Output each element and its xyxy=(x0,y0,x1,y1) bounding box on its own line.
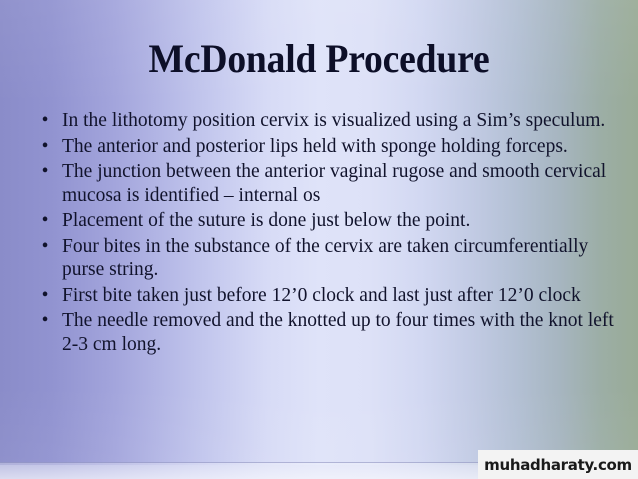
list-item-text: The junction between the anterior vagina… xyxy=(62,160,620,207)
list-item-text: Placement of the suture is done just bel… xyxy=(62,209,620,233)
list-item-text: The needle removed and the knotted up to… xyxy=(62,309,620,356)
bullet-list: • In the lithotomy position cervix is vi… xyxy=(28,109,620,358)
watermark-label: muhadharaty.com xyxy=(484,456,632,474)
slide-title: McDonald Procedure xyxy=(19,36,619,82)
bullet-dot-icon: • xyxy=(38,109,52,133)
bullet-dot-icon: • xyxy=(38,135,52,159)
list-item: • Placement of the suture is done just b… xyxy=(28,209,620,233)
list-item: • The anterior and posterior lips held w… xyxy=(28,135,620,159)
watermark-banner: muhadharaty.com xyxy=(478,450,638,479)
list-item-text: Four bites in the substance of the cervi… xyxy=(62,235,620,282)
list-item: • In the lithotomy position cervix is vi… xyxy=(28,109,620,133)
bullet-dot-icon: • xyxy=(38,284,52,308)
list-item: • Four bites in the substance of the cer… xyxy=(28,235,620,282)
slide-content: McDonald Procedure • In the lithotomy po… xyxy=(0,0,638,479)
list-item: • The needle removed and the knotted up … xyxy=(28,309,620,356)
list-item-text: The anterior and posterior lips held wit… xyxy=(62,135,620,159)
bullet-dot-icon: • xyxy=(38,160,52,184)
list-item-text: In the lithotomy position cervix is visu… xyxy=(62,109,620,133)
bullet-dot-icon: • xyxy=(38,209,52,233)
list-item: • The junction between the anterior vagi… xyxy=(28,160,620,207)
list-item: • First bite taken just before 12’0 cloc… xyxy=(28,284,620,308)
list-item-text: First bite taken just before 12’0 clock … xyxy=(62,284,620,308)
bullet-dot-icon: • xyxy=(38,235,52,259)
presentation-slide: McDonald Procedure • In the lithotomy po… xyxy=(0,0,638,479)
bullet-dot-icon: • xyxy=(38,309,52,333)
